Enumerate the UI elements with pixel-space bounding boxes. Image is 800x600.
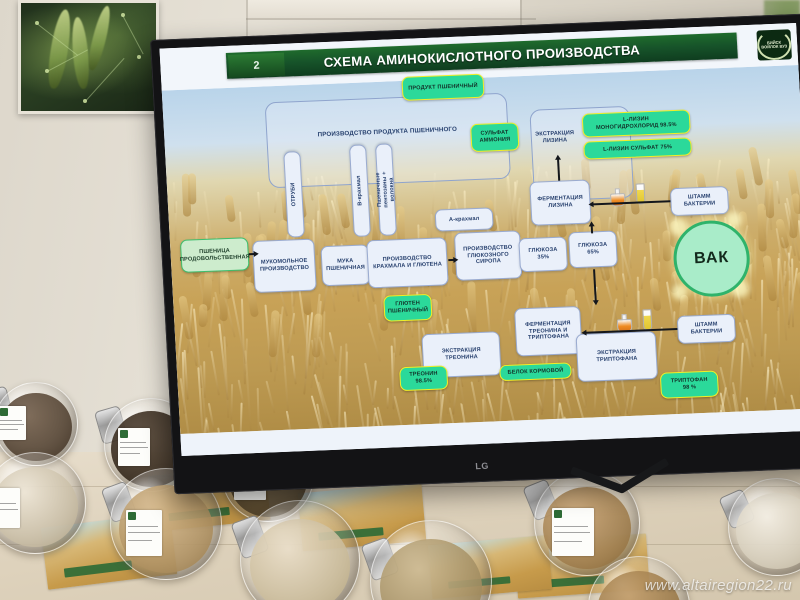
slide-page-number: 2 [253, 59, 260, 71]
presentation-slide: СХЕМА АМИНОКИСЛОТНОГО ПРОИЗВОДСТВА 2 БИЙ… [159, 23, 800, 456]
label-line [120, 447, 148, 448]
label-line [128, 526, 158, 527]
jar-glass [240, 500, 360, 600]
slide-title: СХЕМА АМИНОКИСЛОТНОГО ПРОИЗВОДСТВА [323, 42, 640, 70]
node-a-starch: A-крахмал [435, 207, 494, 231]
node-lysine-extraction: ЭКСТРАКЦИЯЛИЗИНА [530, 120, 580, 156]
node-glucose-35: ГЛЮКОЗА35% [518, 236, 568, 272]
test-tube-icon [642, 309, 652, 330]
jar-label [118, 428, 150, 466]
sample-jar [0, 452, 84, 552]
label-line [0, 420, 22, 421]
label-line [120, 442, 146, 443]
poster-network-link [122, 15, 144, 54]
node-threonine: ТРЕОНИН98.5% [399, 365, 448, 391]
label-line [554, 532, 590, 533]
jar-label [0, 488, 20, 528]
wheat-network-poster [18, 0, 159, 114]
label-line [128, 540, 152, 541]
label-line [128, 532, 160, 533]
node-tryptophan-extraction: ЭКСТРАКЦИЯТРИПТОФАНА [576, 331, 659, 382]
label-logo-icon [0, 408, 8, 416]
node-feed-protein: БЕЛОК КОРМОВОЙ [499, 362, 572, 381]
node-wheat-gluten: ГЛЮТЕНПШЕНИЧНЫЙ [383, 294, 432, 322]
arrow-head [588, 221, 594, 226]
arrow-head [453, 256, 458, 262]
arrow-head [592, 300, 598, 305]
sample-jar [728, 478, 800, 574]
label-line [0, 503, 16, 504]
node-glucose-syrup-production: ПРОИЗВОДСТВОГЛЮКОЗНОГОСИРОПА [454, 230, 523, 281]
poster-network-node [137, 55, 141, 59]
television: LG СХЕМА АМИНОКИСЛОТНОГО ПРОИЗВОДСТВА 2 … [150, 14, 800, 495]
node-bacteria-strain-lysine: ШТАММБАКТЕРИИ [670, 186, 729, 216]
slide-page-badge: 2 [228, 53, 285, 78]
photo-scene: LG СХЕМА АМИНОКИСЛОТНОГО ПРОИЗВОДСТВА 2 … [0, 0, 800, 600]
jar-contents [250, 519, 350, 600]
flask-body [610, 193, 626, 207]
label-line [0, 429, 18, 430]
company-emblem-icon: БИЙСК ВОЙЛОК ВУЗ [756, 29, 792, 60]
tv-screen: СХЕМА АМИНОКИСЛОТНОГО ПРОИЗВОДСТВА 2 БИЙ… [159, 23, 800, 456]
label-line [120, 453, 140, 454]
laurel-wreath-icon: БИЙСК ВОЙЛОК ВУЗ [756, 29, 792, 60]
node-glucose-65: ГЛЮКОЗА65% [568, 230, 618, 268]
label-line [554, 526, 588, 527]
label-line [0, 424, 24, 425]
label-logo-icon [128, 512, 136, 520]
emblem-text: БИЙСК ВОЙЛОК ВУЗ [759, 40, 789, 50]
node-wheat-food: ПШЕНИЦАПРОДОВОЛЬСТВЕННАЯ [180, 237, 250, 273]
node-bacteria-strain-thr-trp: ШТАММБАКТЕРИИ [677, 314, 736, 344]
node-milling-production: МУКОМОЛЬНОЕПРОИЗВОДСТВО [252, 239, 317, 293]
tv-brand-label: LG [475, 461, 489, 472]
node-threonine-tryptophan-fermentation: ФЕРМЕНТАЦИЯТРЕОНИНА ИТРИПТОФАНА [514, 306, 583, 357]
poster-wheat-ear [85, 4, 114, 71]
arrow-head [254, 250, 259, 256]
node-wheat-flour: МУКАПШЕНИЧНАЯ [320, 244, 370, 286]
jar-contents [380, 539, 482, 600]
node-starch-gluten-production: ПРОИЗВОДСТВОКРАХМАЛА И ГЛЮТЕНА [366, 237, 449, 288]
node-tryptophan: ТРИПТОФАН98 % [660, 370, 719, 398]
node-l-lysine-monohydrochloride: L-ЛИЗИНМОНОГИДРОХЛОРИД 98.5% [582, 109, 691, 137]
photo-watermark: www.altairegion22.ru [645, 577, 792, 594]
sample-jar [370, 520, 490, 600]
node-ammonium-sulfate: СУЛЬФАТАММОНИЯ [470, 122, 519, 152]
wall-panel [248, 0, 520, 20]
node-lysine-fermentation: ФЕРМЕНТАЦИЯЛИЗИНА [529, 179, 591, 225]
label-logo-icon [554, 510, 562, 518]
arrow-head [588, 201, 593, 207]
label-line [554, 541, 582, 542]
jar-label [126, 510, 162, 556]
arrow-head [554, 155, 560, 160]
node-wheat-product: ПРОДУКТ ПШЕНИЧНЫЙ [401, 74, 484, 101]
jar-contents [736, 493, 800, 569]
jar-label [0, 406, 26, 440]
label-logo-icon [120, 430, 128, 438]
arrow-head [581, 329, 586, 335]
sample-jar [240, 500, 358, 600]
label-line [0, 509, 18, 510]
wall-seam [246, 18, 536, 20]
jar-glass [370, 520, 492, 600]
